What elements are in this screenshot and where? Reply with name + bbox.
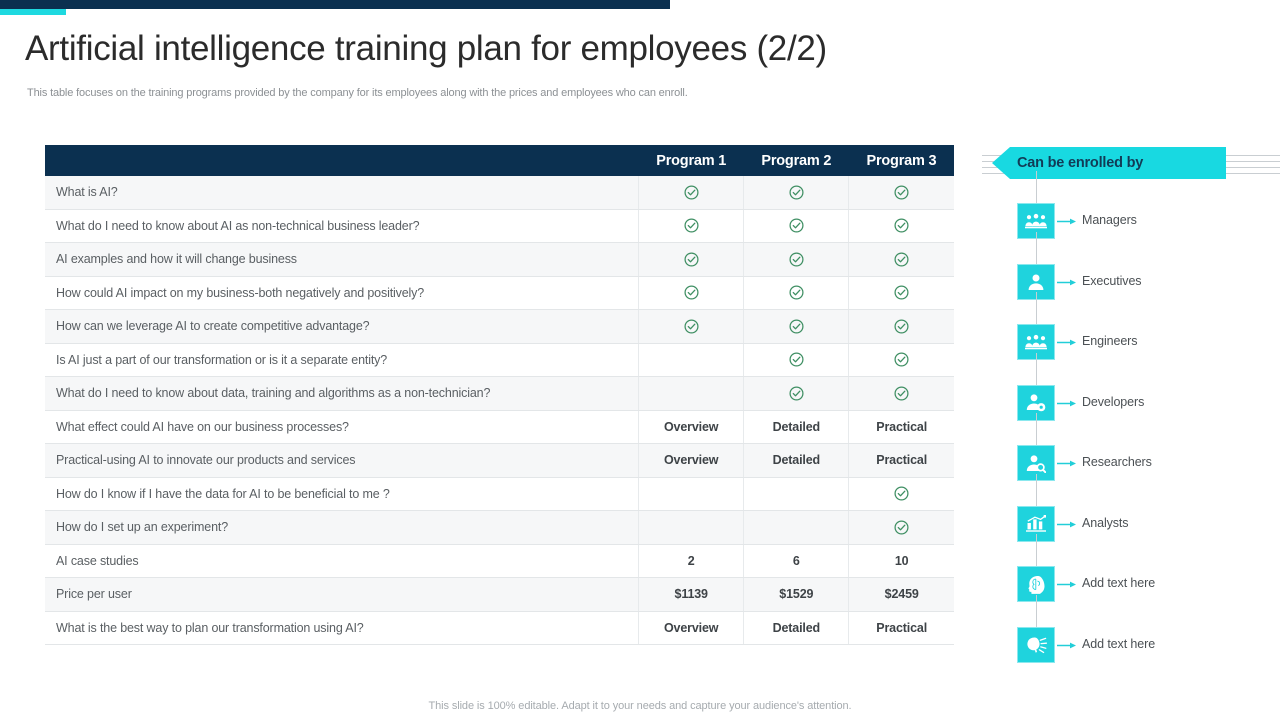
table-cell-program-3: Practical (849, 444, 954, 478)
table-cell-program-2 (744, 377, 849, 411)
table-cell-program-3 (849, 377, 954, 411)
table-cell-program-2: Detailed (744, 611, 849, 645)
table-cell-question: What is AI? (45, 176, 639, 209)
check-icon (894, 218, 909, 233)
check-icon (789, 185, 804, 200)
connector-line (1036, 534, 1037, 568)
arrow-right-icon (1057, 581, 1077, 588)
table-row: AI examples and how it will change busin… (45, 243, 954, 277)
table-cell-question: How could AI impact on my business-both … (45, 276, 639, 310)
enrolled-by-item[interactable]: Add text here (990, 605, 1280, 666)
check-icon (789, 386, 804, 401)
connector-line (1036, 171, 1037, 205)
table-cell-program-3 (849, 209, 954, 243)
check-icon (894, 352, 909, 367)
table-row: How do I know if I have the data for AI … (45, 477, 954, 511)
slide-footer-note: This slide is 100% editable. Adapt it to… (0, 700, 1280, 712)
arrow-right-icon (1057, 521, 1077, 528)
check-icon (684, 252, 699, 267)
enrolled-by-item[interactable]: Executives (990, 242, 1280, 303)
table-row: How can we leverage AI to create competi… (45, 310, 954, 344)
table-cell-program-2: $1529 (744, 578, 849, 612)
table-cell-program-2: Detailed (744, 410, 849, 444)
enrolled-by-banner: Can be enrolled by (992, 147, 1226, 179)
table-cell-program-1 (639, 511, 744, 545)
check-icon (789, 319, 804, 334)
table-cell-program-1: Overview (639, 611, 744, 645)
table-row: What do I need to know about data, train… (45, 377, 954, 411)
table-cell-program-2 (744, 209, 849, 243)
table-row: How could AI impact on my business-both … (45, 276, 954, 310)
enrolled-by-item[interactable]: Developers (990, 363, 1280, 424)
table-row: What effect could AI have on our busines… (45, 410, 954, 444)
enrolled-by-item[interactable]: Engineers (990, 302, 1280, 363)
table-cell-program-2 (744, 243, 849, 277)
table-cell-question: How do I set up an experiment? (45, 511, 639, 545)
table-cell-program-1: 2 (639, 544, 744, 578)
check-icon (684, 285, 699, 300)
enrolled-by-item[interactable]: Researchers (990, 423, 1280, 484)
table-cell-program-1 (639, 477, 744, 511)
check-icon (894, 386, 909, 401)
table-cell-program-3 (849, 176, 954, 209)
brain-rays-icon (1017, 627, 1055, 663)
enrolled-by-item-label: Managers (1082, 213, 1137, 227)
check-icon (894, 285, 909, 300)
table-cell-program-3: 10 (849, 544, 954, 578)
check-icon (684, 319, 699, 334)
enrolled-by-item-label: Executives (1082, 274, 1141, 288)
table-cell-question: What is the best way to plan our transfo… (45, 611, 639, 645)
connector-line (1036, 292, 1037, 326)
table-cell-program-2 (744, 511, 849, 545)
table-cell-question: How do I know if I have the data for AI … (45, 477, 639, 511)
top-accent-bar-cyan (0, 9, 66, 15)
table-cell-program-2 (744, 176, 849, 209)
table-cell-program-1 (639, 176, 744, 209)
table-cell-program-2 (744, 310, 849, 344)
enrolled-by-list: ManagersExecutivesEngineersDevelopersRes… (990, 181, 1280, 665)
check-icon (894, 319, 909, 334)
enrolled-by-item[interactable]: Add text here (990, 544, 1280, 605)
check-icon (789, 352, 804, 367)
table-cell-program-3 (849, 511, 954, 545)
table-row: Price per user$1139$1529$2459 (45, 578, 954, 612)
check-icon (894, 486, 909, 501)
enrolled-by-item-label: Analysts (1082, 516, 1128, 530)
table-cell-program-1 (639, 310, 744, 344)
table-row: AI case studies2610 (45, 544, 954, 578)
table-cell-program-1: Overview (639, 410, 744, 444)
column-header-question (45, 145, 639, 176)
connector-line (1036, 595, 1037, 629)
page-title: Artificial intelligence training plan fo… (25, 29, 1125, 69)
enrolled-by-item-label: Researchers (1082, 455, 1152, 469)
top-accent-bar-navy (0, 0, 670, 9)
table-cell-program-3 (849, 310, 954, 344)
table-cell-program-1 (639, 276, 744, 310)
table-cell-program-2: 6 (744, 544, 849, 578)
table-cell-program-1: $1139 (639, 578, 744, 612)
table-cell-question: Practical-using AI to innovate our produ… (45, 444, 639, 478)
table-cell-program-1 (639, 377, 744, 411)
enrolled-by-item[interactable]: Managers (990, 181, 1280, 242)
arrow-right-icon (1057, 339, 1077, 346)
table-cell-program-1 (639, 343, 744, 377)
table-cell-program-1: Overview (639, 444, 744, 478)
check-icon (789, 218, 804, 233)
table-cell-question: AI case studies (45, 544, 639, 578)
table-row: What is AI? (45, 176, 954, 209)
page-subtitle: This table focuses on the training progr… (27, 87, 927, 99)
enrolled-by-item[interactable]: Analysts (990, 484, 1280, 545)
enrolled-by-banner-label: Can be enrolled by (1017, 155, 1143, 171)
check-icon (894, 252, 909, 267)
connector-line (1036, 413, 1037, 447)
check-icon (789, 252, 804, 267)
table-cell-program-3 (849, 343, 954, 377)
table-cell-program-3 (849, 477, 954, 511)
enrolled-by-item-label: Developers (1082, 395, 1144, 409)
connector-line (1036, 474, 1037, 508)
table-cell-question: Price per user (45, 578, 639, 612)
table-cell-program-2 (744, 343, 849, 377)
arrow-right-icon (1057, 218, 1077, 225)
table-cell-program-3 (849, 276, 954, 310)
program-comparison-table: Program 1 Program 2 Program 3 What is AI… (45, 145, 954, 645)
table-cell-question: AI examples and how it will change busin… (45, 243, 639, 277)
table-cell-program-3: Practical (849, 611, 954, 645)
table-cell-program-1 (639, 243, 744, 277)
table-cell-program-3: Practical (849, 410, 954, 444)
connector-line (1036, 353, 1037, 387)
arrow-right-icon (1057, 460, 1077, 467)
enrolled-by-item-label: Engineers (1082, 334, 1137, 348)
arrow-right-icon (1057, 279, 1077, 286)
table-cell-program-2 (744, 276, 849, 310)
table-cell-program-3 (849, 243, 954, 277)
arrow-right-icon (1057, 642, 1077, 649)
table-cell-question: What do I need to know about data, train… (45, 377, 639, 411)
column-header-program-2: Program 2 (744, 145, 849, 176)
column-header-program-1: Program 1 (639, 145, 744, 176)
table-row: How do I set up an experiment? (45, 511, 954, 545)
table-header-row: Program 1 Program 2 Program 3 (45, 145, 954, 176)
check-icon (684, 185, 699, 200)
check-icon (894, 520, 909, 535)
enrolled-by-item-label: Add text here (1082, 637, 1155, 651)
connector-line (1036, 232, 1037, 266)
enrolled-by-item-label: Add text here (1082, 576, 1155, 590)
table-cell-program-2: Detailed (744, 444, 849, 478)
arrow-right-icon (1057, 400, 1077, 407)
check-icon (894, 185, 909, 200)
table-cell-program-1 (639, 209, 744, 243)
table-cell-question: How can we leverage AI to create competi… (45, 310, 639, 344)
check-icon (684, 218, 699, 233)
table-cell-question: What do I need to know about AI as non-t… (45, 209, 639, 243)
table-row: What do I need to know about AI as non-t… (45, 209, 954, 243)
table-row: Practical-using AI to innovate our produ… (45, 444, 954, 478)
table-cell-question: What effect could AI have on our busines… (45, 410, 639, 444)
table-cell-question: Is AI just a part of our transformation … (45, 343, 639, 377)
check-icon (789, 285, 804, 300)
table-cell-program-3: $2459 (849, 578, 954, 612)
column-header-program-3: Program 3 (849, 145, 954, 176)
enrolled-by-panel: Can be enrolled by ManagersExecutivesEng… (990, 145, 1280, 665)
table-row: Is AI just a part of our transformation … (45, 343, 954, 377)
table-row: What is the best way to plan our transfo… (45, 611, 954, 645)
table-cell-program-2 (744, 477, 849, 511)
